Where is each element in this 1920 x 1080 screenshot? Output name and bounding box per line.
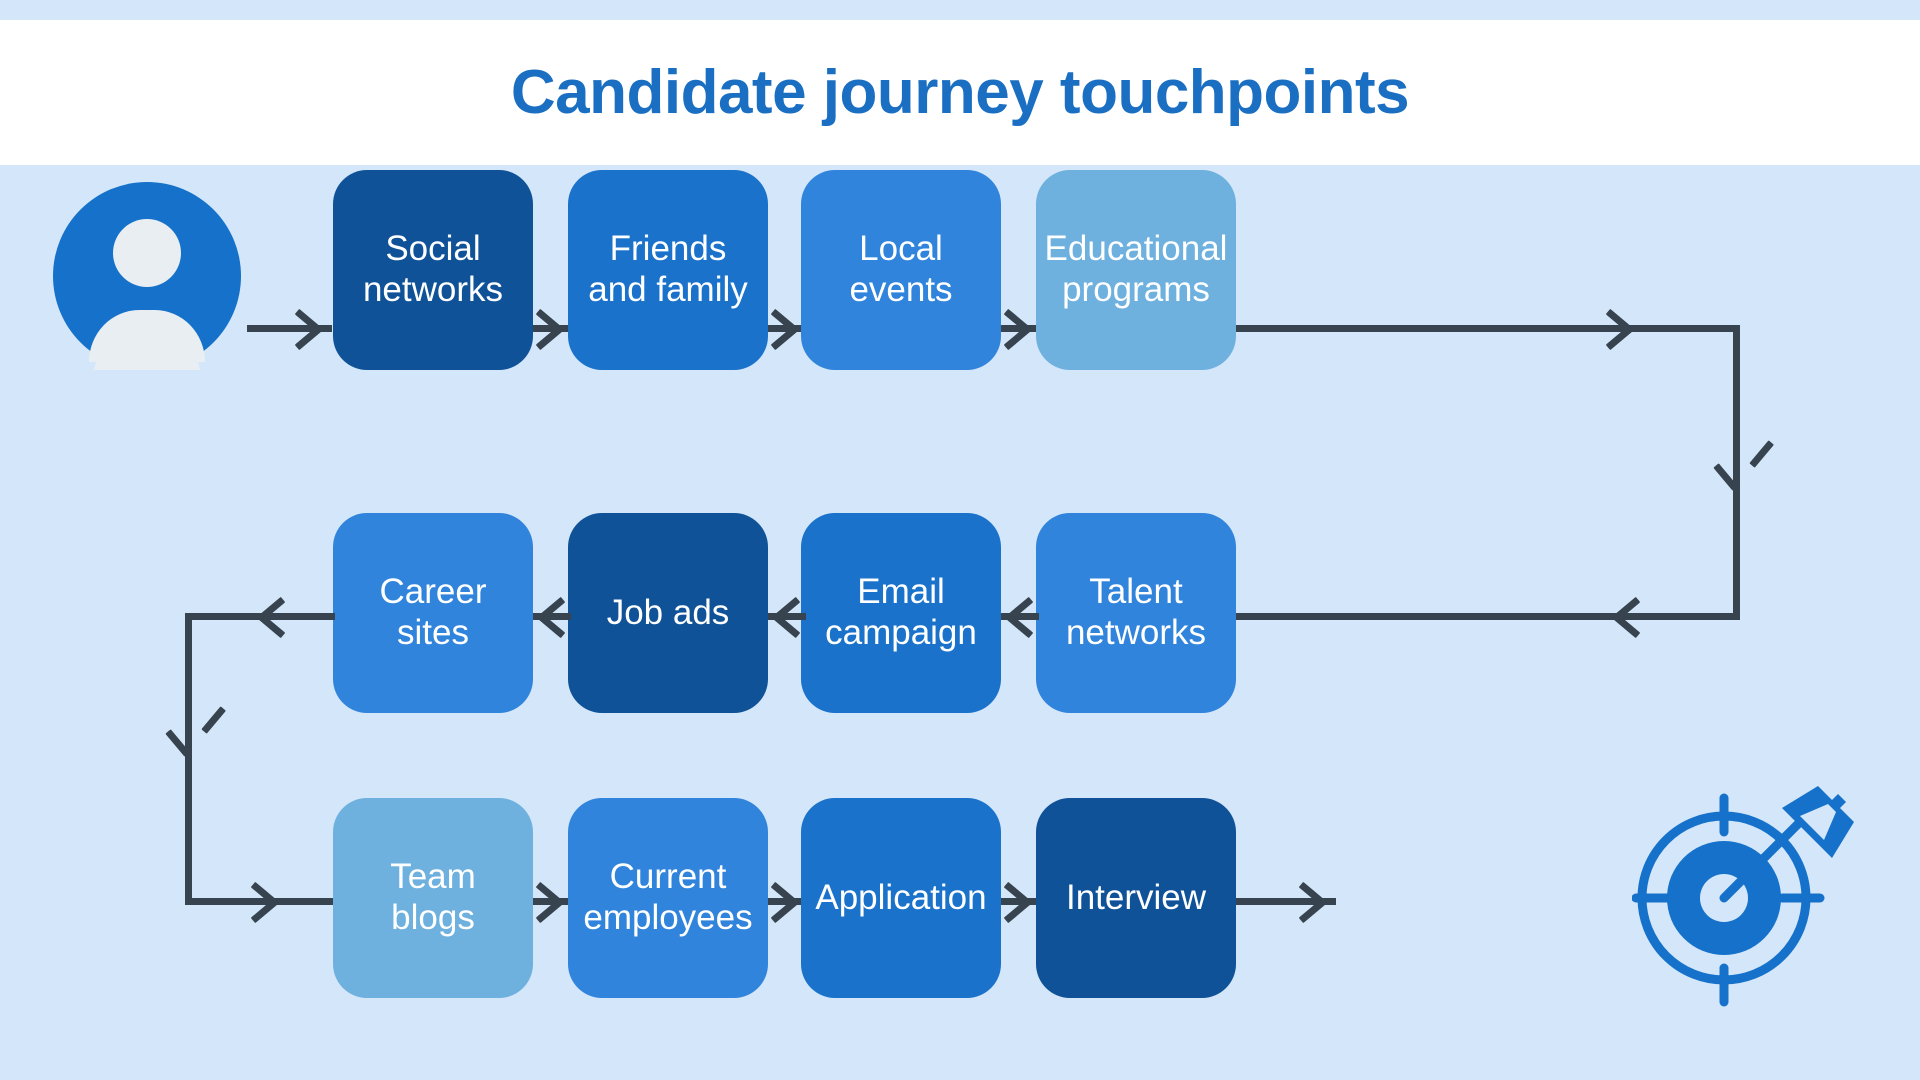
node-career-sites[interactable]: Career sites [333, 513, 533, 713]
header-band: Candidate journey touchpoints [0, 20, 1920, 165]
connector-left-vertical [185, 613, 192, 904]
node-talent-networks[interactable]: Talent networks [1036, 513, 1236, 713]
node-email-campaign[interactable]: Email campaign [801, 513, 1001, 713]
node-current-employees[interactable]: Current employees [568, 798, 768, 998]
connector-row1-right-horizontal [1236, 325, 1740, 332]
connector-right-vertical [1733, 325, 1740, 620]
node-team-blogs[interactable]: Team blogs [333, 798, 533, 998]
page-title: Candidate journey touchpoints [511, 62, 1409, 124]
connector-left-to-teamblogs [185, 898, 335, 905]
node-educational-programs[interactable]: Educational programs [1036, 170, 1236, 370]
target-arrow-svg [1632, 780, 1872, 1020]
target-arrow-icon [1632, 780, 1872, 1020]
node-social-networks[interactable]: Social networks [333, 170, 533, 370]
avatar-head [113, 219, 181, 287]
top-strip [0, 0, 1920, 20]
node-application[interactable]: Application [801, 798, 1001, 998]
node-interview[interactable]: Interview [1036, 798, 1236, 998]
node-job-ads[interactable]: Job ads [568, 513, 768, 713]
diagram-canvas: Candidate journey touchpoints Social net… [0, 0, 1920, 1080]
connector-right-to-talent [1236, 613, 1740, 620]
node-local-events[interactable]: Local events [801, 170, 1001, 370]
node-friends-and-family[interactable]: Friends and family [568, 170, 768, 370]
